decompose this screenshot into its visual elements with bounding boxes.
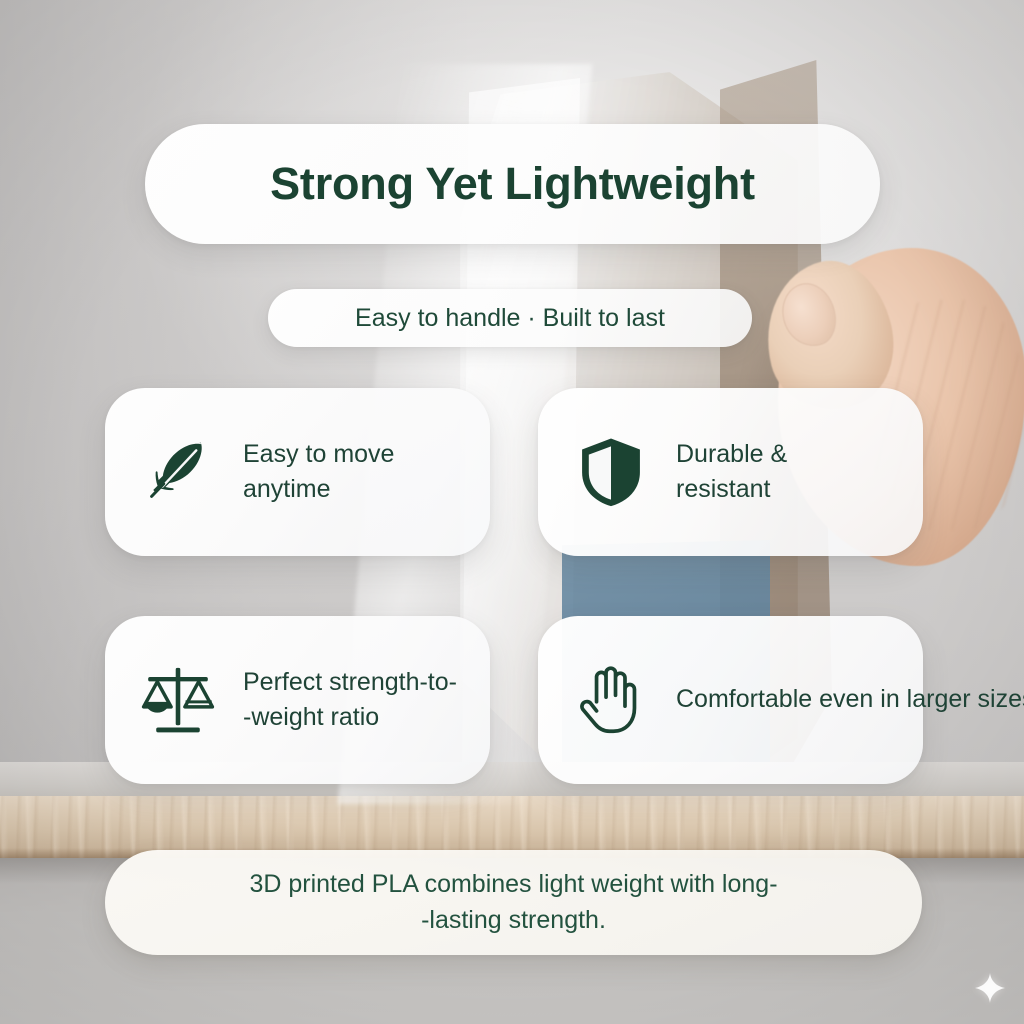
footer-pill: 3D printed PLA combines light weight wit… [105,850,922,955]
feature-card-strength-to-weight: Perfect strength-to- -weight ratio [105,616,490,784]
shield-icon [572,433,650,511]
footer-description: 3D printed PLA combines light weight wit… [249,867,777,938]
overlay-layer: Strong Yet Lightweight Easy to handle · … [0,0,1024,1024]
feature-card-easy-to-move: Easy to move anytime [105,388,490,556]
balance-scale-icon [139,661,217,739]
feather-icon [139,433,217,511]
sparkle-icon [975,973,1005,1003]
infographic-canvas: Strong Yet Lightweight Easy to handle · … [0,0,1024,1024]
feature-label: Comfortable even in larger sizes [676,682,1024,718]
feature-card-durable: Durable & resistant [538,388,923,556]
feature-label: Perfect strength-to- -weight ratio [243,665,457,736]
feature-label: Durable & resistant [676,437,787,508]
feature-card-comfortable: Comfortable even in larger sizes [538,616,923,784]
open-hand-icon [572,661,650,739]
feature-label: Easy to move anytime [243,437,394,508]
